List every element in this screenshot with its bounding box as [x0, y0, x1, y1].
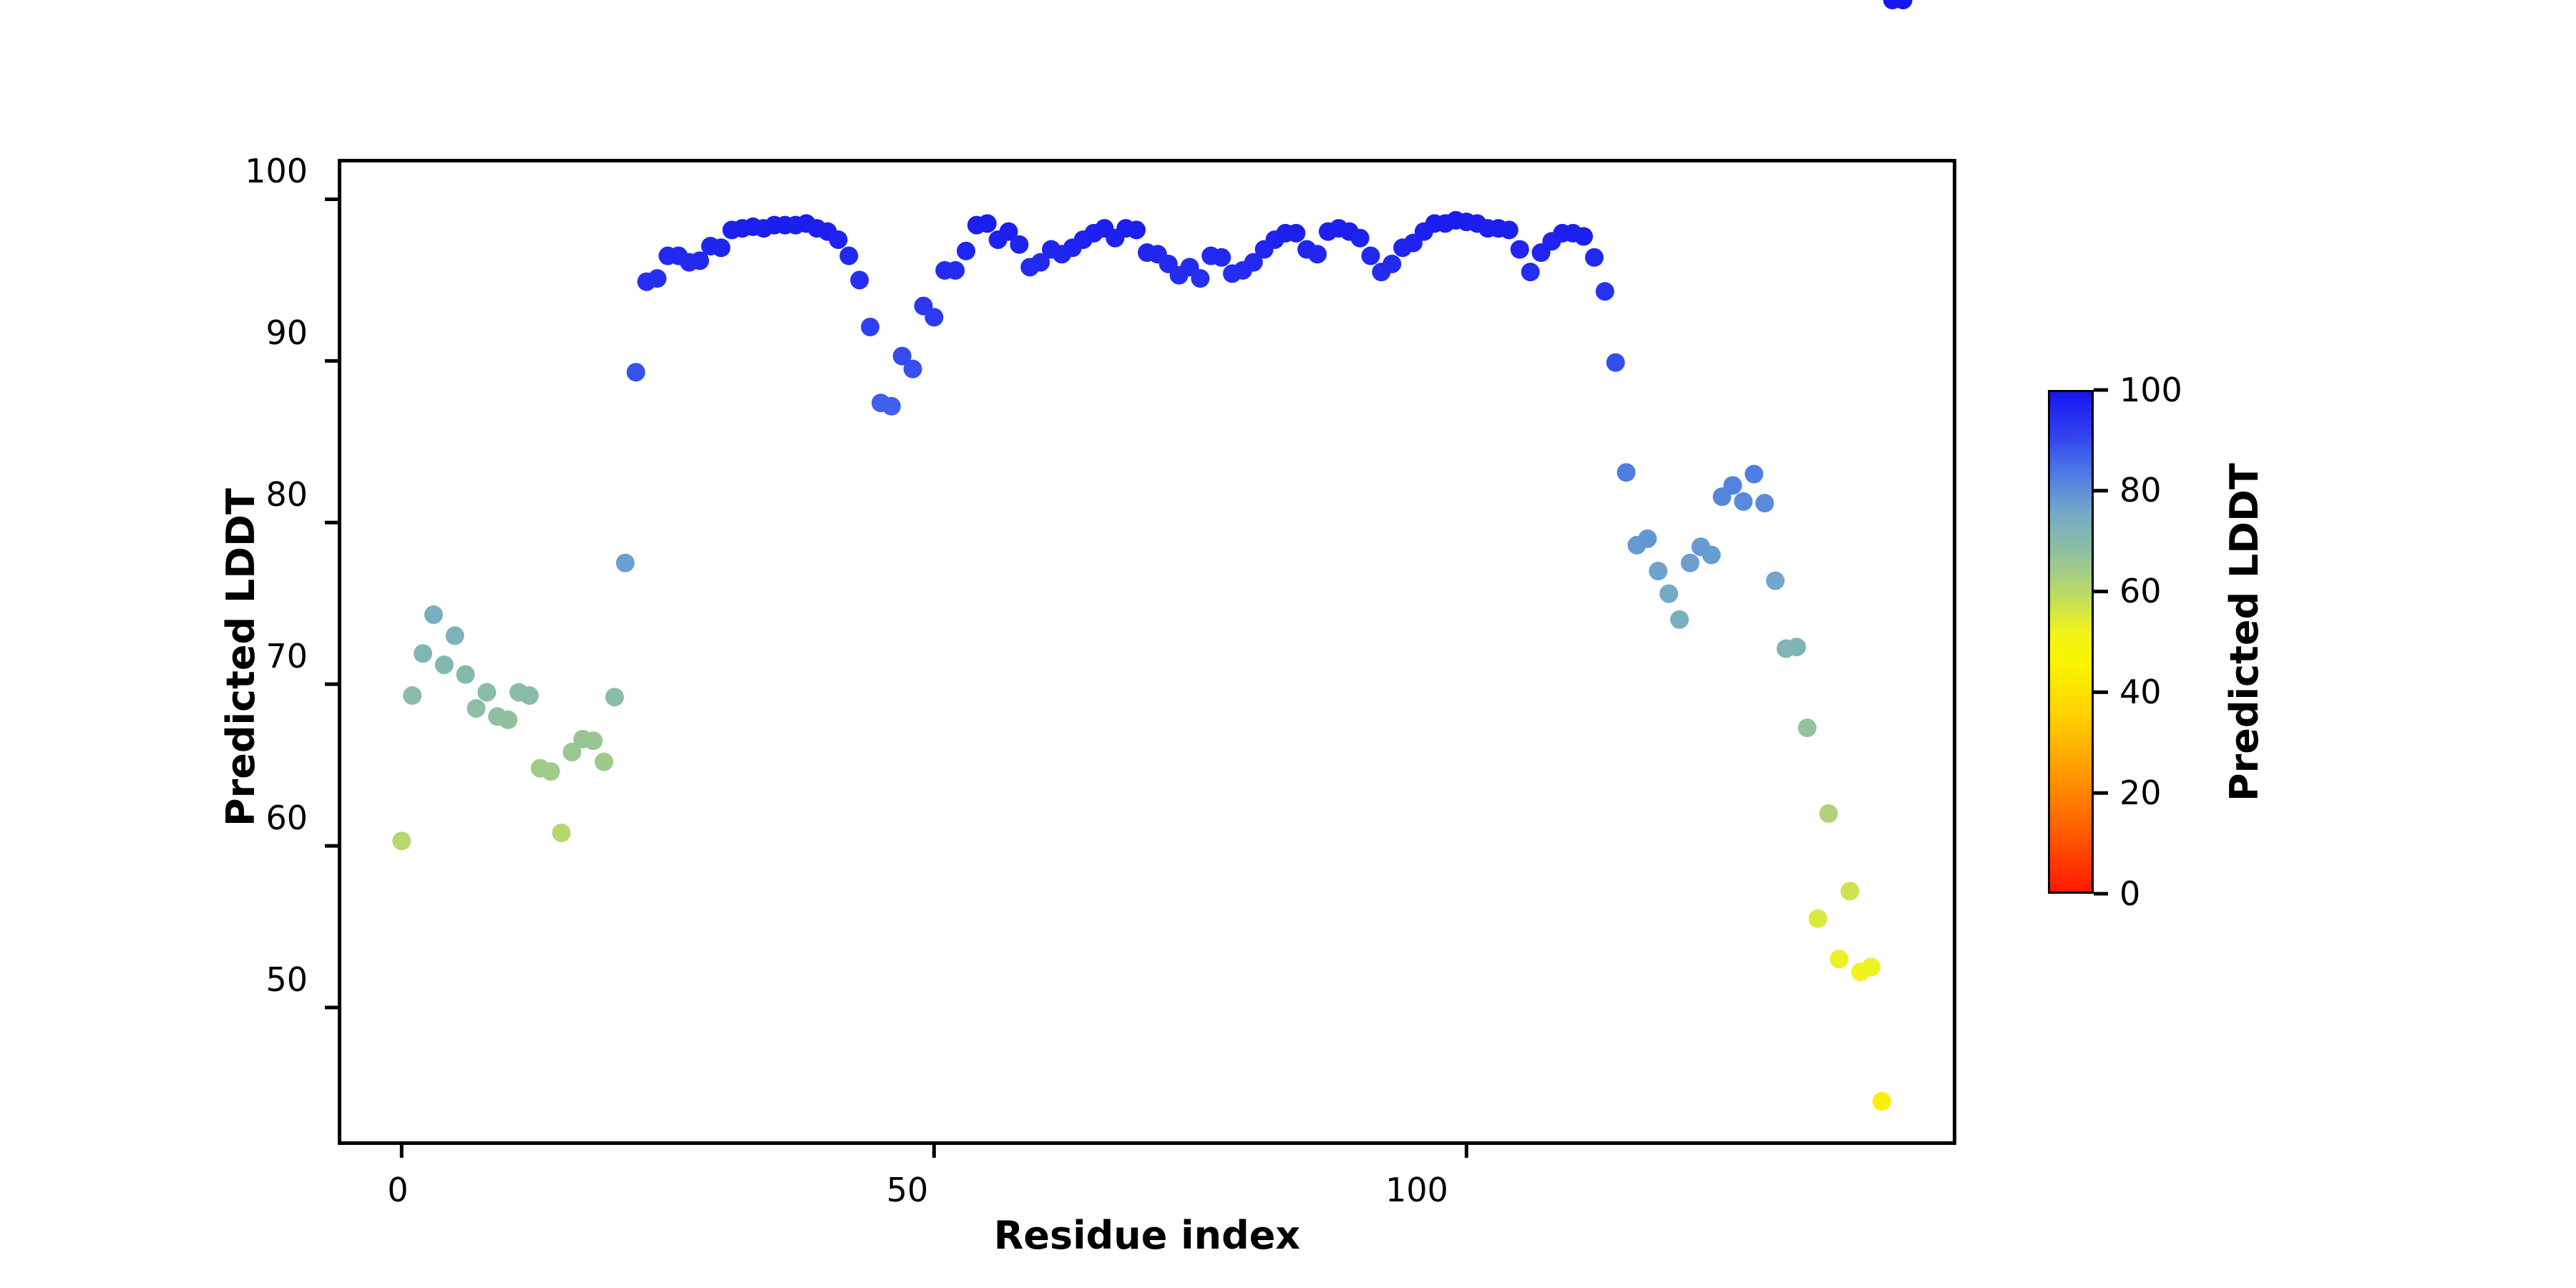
ytick-label-50: 50 [208, 963, 308, 996]
y-axis-title: Predicted LDDT [222, 488, 260, 826]
xtick-label-100: 100 [1385, 1174, 1448, 1206]
colorbar-gradient [2048, 390, 2094, 894]
colorbar [2048, 390, 2094, 894]
plot-axes-frame [338, 159, 1956, 1145]
scatter-point [1894, 0, 1913, 9]
xtick-label-0: 0 [387, 1174, 408, 1206]
colorbar-tick-label-0: 0 [2119, 877, 2140, 910]
colorbar-ticks [2094, 390, 2108, 894]
colorbar-tick-label-20: 20 [2119, 776, 2162, 809]
colorbar-tick-label-80: 80 [2119, 474, 2162, 507]
figure-canvas: 50 60 70 80 90 100 0 50 100 Predicted LD… [0, 0, 2576, 1288]
xtick-label-50: 50 [887, 1174, 929, 1206]
ytick-label-90: 90 [208, 316, 308, 349]
x-axis-ticks [401, 1145, 1466, 1158]
colorbar-tick-label-40: 40 [2119, 675, 2162, 708]
x-axis-title: Residue index [994, 1216, 1300, 1255]
y-axis-ticks [325, 199, 338, 1008]
ytick-label-100: 100 [208, 155, 308, 187]
colorbar-tick-label-60: 60 [2119, 575, 2162, 608]
colorbar-title: Predicted LDDT [2225, 463, 2264, 801]
colorbar-tick-label-100: 100 [2119, 374, 2182, 406]
scatter-point [1883, 0, 1902, 9]
